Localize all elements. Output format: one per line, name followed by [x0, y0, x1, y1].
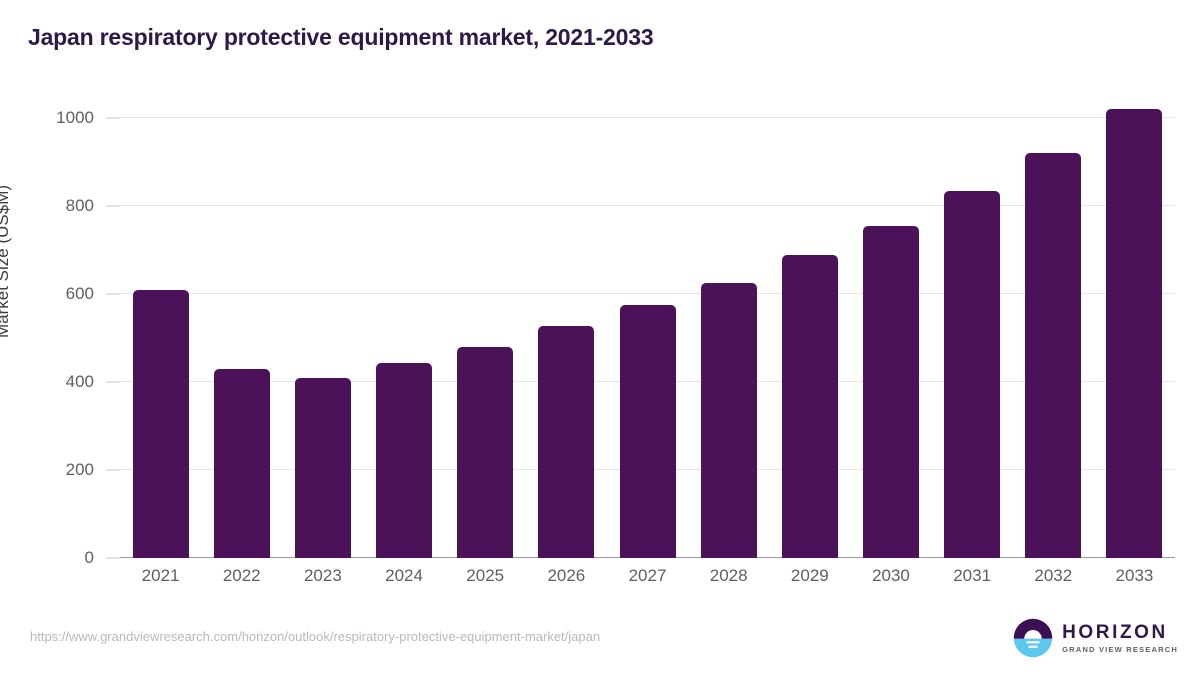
x-tick-label: 2022: [201, 566, 282, 596]
logo-tagline: GRAND VIEW RESEARCH: [1062, 646, 1178, 654]
plot-area: [120, 118, 1175, 558]
y-tick-label: 400: [66, 372, 94, 392]
logo-name: HORIZON: [1062, 623, 1178, 642]
bar-2031[interactable]: [944, 191, 1000, 558]
horizon-sun-circle-icon: [1013, 618, 1053, 658]
x-tick-label: 2028: [688, 566, 769, 596]
x-tick-label: 2021: [120, 566, 201, 596]
bar-slot: [607, 118, 688, 558]
bar-2029[interactable]: [782, 255, 838, 558]
bar-slot: [201, 118, 282, 558]
x-tick-label: 2025: [445, 566, 526, 596]
bar-2028[interactable]: [701, 283, 757, 558]
bar-slot: [526, 118, 607, 558]
x-tick-label: 2031: [932, 566, 1013, 596]
y-tick-mark: [106, 294, 120, 295]
bar-2023[interactable]: [295, 378, 351, 558]
bar-2024[interactable]: [376, 363, 432, 558]
y-tick-mark: [106, 118, 120, 119]
y-tick-mark: [106, 470, 120, 471]
bar-2022[interactable]: [214, 369, 270, 558]
logo-text-block: HORIZON GRAND VIEW RESEARCH: [1062, 623, 1178, 654]
x-tick-label: 2033: [1094, 566, 1175, 596]
x-tick-label: 2024: [363, 566, 444, 596]
bar-2027[interactable]: [620, 305, 676, 558]
y-tick-mark: [106, 382, 120, 383]
source-url[interactable]: https://www.grandviewresearch.com/horizo…: [30, 629, 600, 644]
bar-series: [120, 118, 1175, 558]
bar-slot: [1013, 118, 1094, 558]
bar-2033[interactable]: [1106, 109, 1162, 558]
y-tick-label: 0: [85, 548, 94, 568]
bar-2025[interactable]: [457, 347, 513, 558]
bar-slot: [1094, 118, 1175, 558]
bar-slot: [688, 118, 769, 558]
y-tick-mark: [106, 206, 120, 207]
bar-2032[interactable]: [1025, 153, 1081, 558]
bar-2026[interactable]: [538, 326, 594, 558]
bar-slot: [282, 118, 363, 558]
x-tick-label: 2029: [769, 566, 850, 596]
y-tick-mark: [106, 558, 120, 559]
bar-slot: [850, 118, 931, 558]
bar-slot: [769, 118, 850, 558]
bar-slot: [932, 118, 1013, 558]
x-tick-label: 2023: [282, 566, 363, 596]
x-tick-label: 2030: [850, 566, 931, 596]
y-tick-label: 200: [66, 460, 94, 480]
x-tick-label: 2026: [526, 566, 607, 596]
bar-slot: [363, 118, 444, 558]
chart-figure: Japan respiratory protective equipment m…: [0, 0, 1200, 675]
y-axis-ticks: 02004006008001000: [0, 118, 120, 558]
x-tick-label: 2027: [607, 566, 688, 596]
page-title: Japan respiratory protective equipment m…: [28, 24, 653, 51]
bar-slot: [445, 118, 526, 558]
x-axis-ticks: 2021202220232024202520262027202820292030…: [120, 566, 1175, 596]
bar-slot: [120, 118, 201, 558]
y-tick-label: 600: [66, 284, 94, 304]
bar-2021[interactable]: [133, 290, 189, 558]
y-tick-label: 1000: [56, 108, 94, 128]
horizon-logo[interactable]: HORIZON GRAND VIEW RESEARCH: [1013, 616, 1178, 660]
x-tick-label: 2032: [1013, 566, 1094, 596]
bar-2030[interactable]: [863, 226, 919, 558]
y-tick-label: 800: [66, 196, 94, 216]
